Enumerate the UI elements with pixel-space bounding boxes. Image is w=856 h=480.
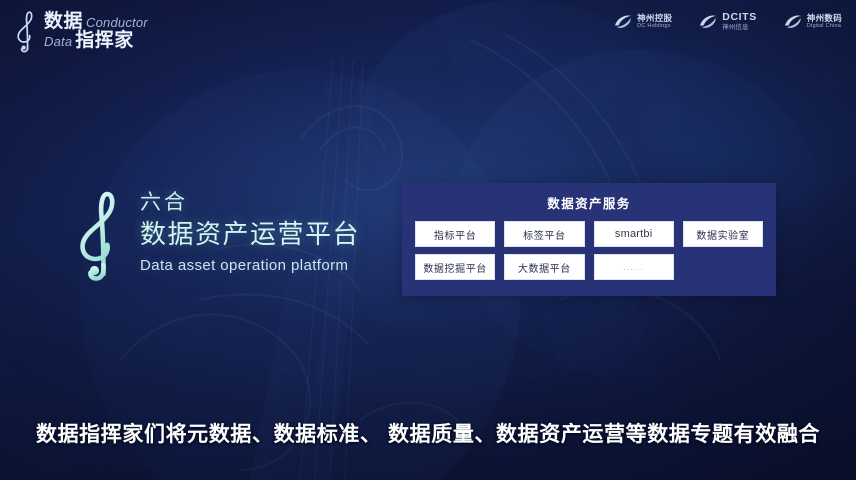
service-tile-smartbi[interactable]: smartbi (594, 221, 674, 247)
partner-logo-dc-holdings: 神州控股 DC Holdings (613, 13, 672, 29)
brand-line-2: Data 指挥家 (44, 31, 148, 50)
slide-canvas: 数据 Conductor Data 指挥家 神州控股 DC Holdings (0, 0, 856, 480)
partner-text-dc-holdings: 神州控股 DC Holdings (637, 14, 672, 30)
product-title-english: Data asset operation platform (140, 257, 360, 274)
swirl-logo-icon (698, 13, 718, 29)
swirl-logo-icon (783, 13, 803, 29)
panel-tile-grid: 指标平台 标签平台 smartbi 数据实验室 数据挖掘平台 大数据平台 ...… (415, 221, 763, 280)
service-tile-biaoqian-pingtai[interactable]: 标签平台 (504, 221, 584, 247)
brand-line-1: 数据 Conductor (44, 12, 148, 31)
brand-en-data: Data (44, 35, 72, 48)
treble-clef-icon (14, 9, 40, 53)
brand-cn-zhihuijia: 指挥家 (75, 31, 134, 50)
swirl-logo-icon (613, 13, 633, 29)
partner-logo-digital-china: 神州数码 Digital China (783, 13, 842, 29)
product-title-liuhe: 六合 (140, 190, 360, 216)
service-tile-zhibiao-pingtai[interactable]: 指标平台 (415, 221, 495, 247)
treble-clef-icon (74, 188, 128, 284)
panel-row: 数据挖掘平台 大数据平台 ...... (415, 254, 763, 280)
brand-cn-shuju: 数据 (44, 12, 83, 31)
panel-row: 指标平台 标签平台 smartbi 数据实验室 (415, 221, 763, 247)
partner-en-label: Digital China (807, 23, 842, 29)
panel-title: 数据资产服务 (402, 193, 776, 212)
service-tile-dashuju-pingtai[interactable]: 大数据平台 (504, 254, 584, 280)
partner-text-digital-china: 神州数码 Digital China (807, 14, 842, 30)
partner-logo-group: 神州控股 DC Holdings DCITS 神州信息 神州数码 Digital… (613, 12, 842, 31)
slide-caption: 数据指挥家们将元数据、数据标准、 数据质量、数据资产运营等数据专题有效融合 (0, 418, 856, 448)
service-tile-shuju-shiyanshi[interactable]: 数据实验室 (683, 221, 763, 247)
partner-en-label: DC Holdings (637, 23, 672, 29)
product-title-text: 六合 数据资产运营平台 Data asset operation platfor… (140, 186, 360, 274)
product-title-main: 数据资产运营平台 (140, 217, 360, 251)
data-asset-service-panel: 数据资产服务 指标平台 标签平台 smartbi 数据实验室 数据挖掘平台 大数… (402, 183, 776, 296)
product-title-block: 六合 数据资产运营平台 Data asset operation platfor… (74, 186, 360, 284)
partner-logo-dcits: DCITS 神州信息 (698, 12, 757, 31)
brand-wordmark: 数据 Conductor Data 指挥家 (44, 12, 148, 51)
partner-cn-label: DCITS (722, 12, 757, 24)
brand-en-conductor: Conductor (86, 16, 148, 29)
partner-text-dcits: DCITS 神州信息 (722, 12, 757, 31)
partner-en-label: 神州信息 (722, 24, 757, 31)
brand-logo: 数据 Conductor Data 指挥家 (14, 8, 148, 54)
service-tile-more[interactable]: ...... (594, 254, 674, 280)
service-tile-shuju-wajue-pingtai[interactable]: 数据挖掘平台 (415, 254, 495, 280)
partner-cn-label: 神州控股 (637, 14, 672, 24)
partner-cn-label: 神州数码 (807, 14, 842, 24)
